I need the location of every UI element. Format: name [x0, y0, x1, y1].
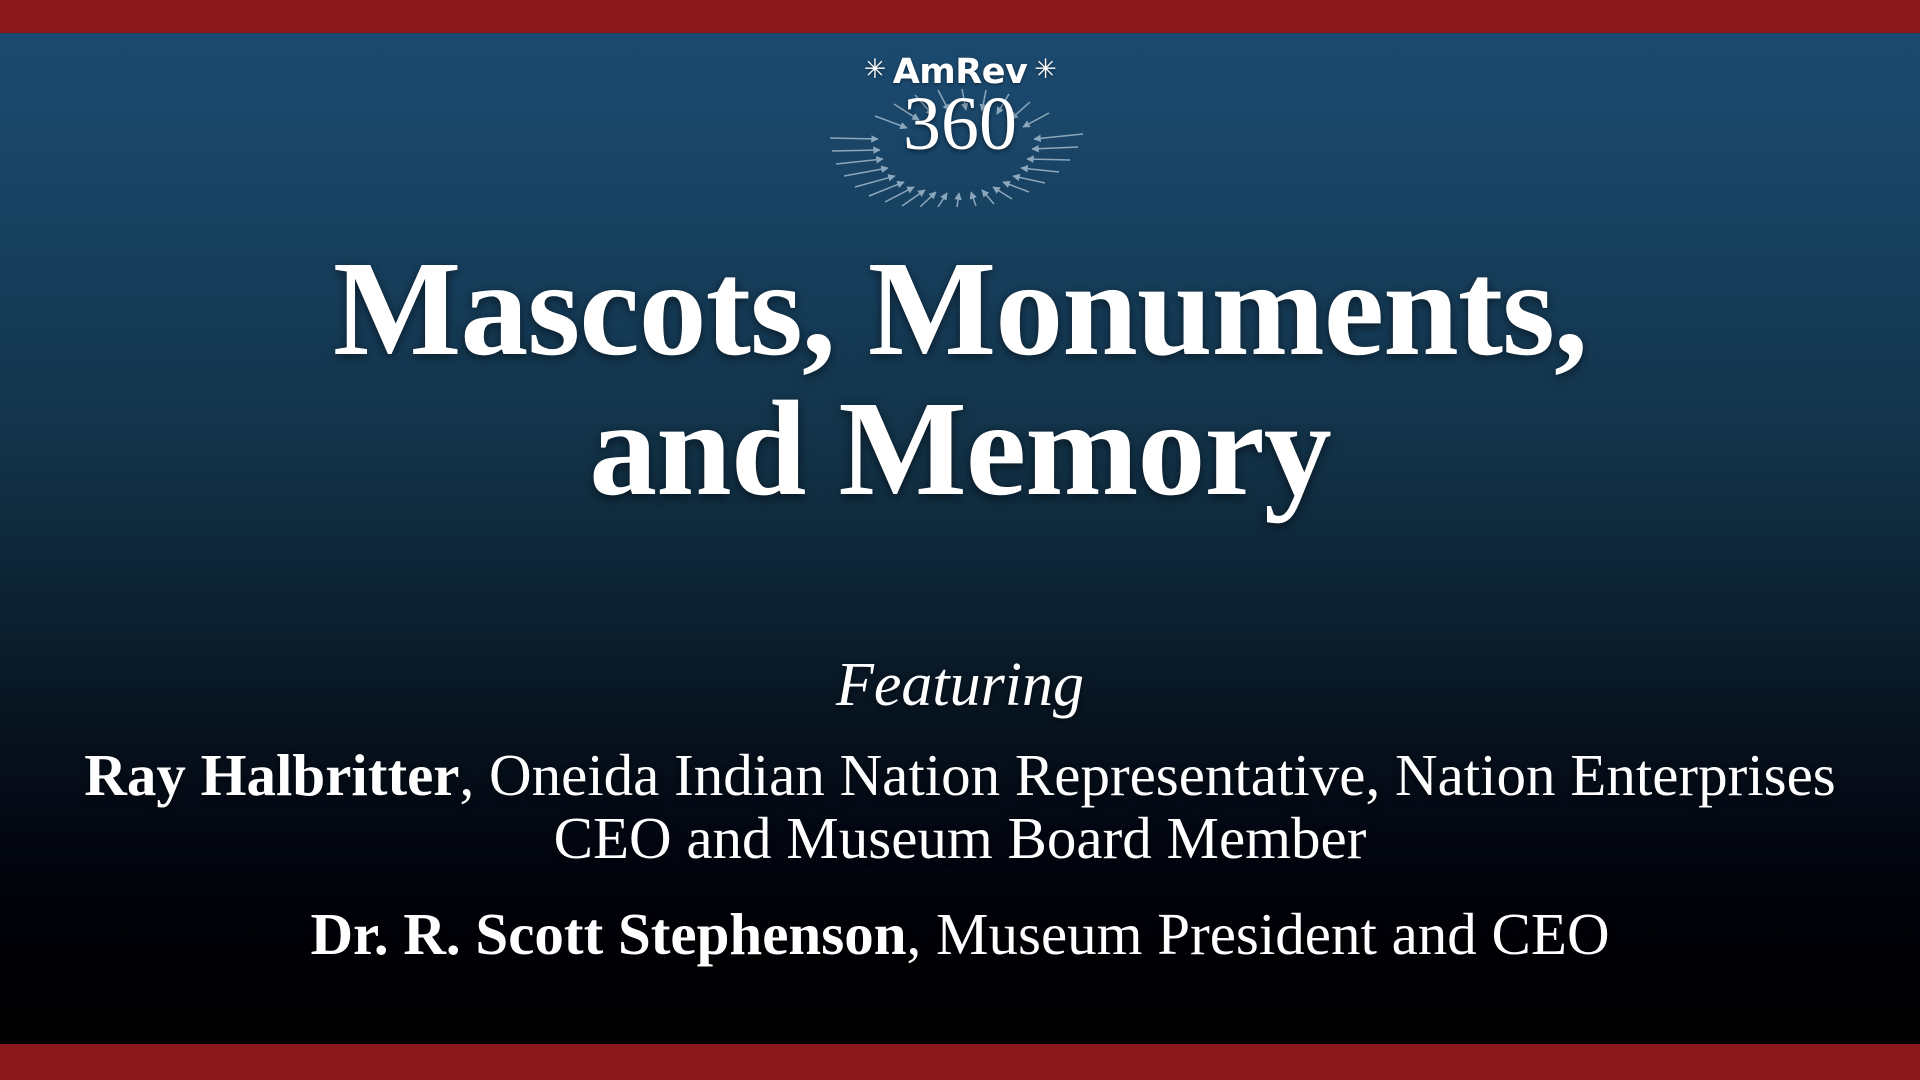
slide-content: ✳ AmRev ✳ 360 Mascots, Monuments, and Me… — [0, 33, 1920, 1044]
amrev360-logo: ✳ AmRev ✳ 360 — [825, 55, 1095, 205]
speaker-role: , Museum President and CEO — [907, 901, 1610, 967]
star-right-icon: ✳ — [1034, 56, 1056, 83]
bottom-accent-bar — [0, 1044, 1920, 1080]
title-slide: ✳ AmRev ✳ 360 Mascots, Monuments, and Me… — [0, 0, 1920, 1080]
speaker-list: Ray Halbritter, Oneida Indian Nation Rep… — [0, 744, 1920, 966]
top-accent-bar — [0, 0, 1920, 33]
speaker-role: , Oneida Indian Nation Representative, N… — [459, 742, 1835, 871]
title-line-1: Mascots, Monuments, — [333, 239, 1587, 379]
title-line-2: and Memory — [333, 379, 1587, 519]
logo-number-text: 360 — [903, 88, 1017, 160]
speaker-name: Ray Halbritter — [84, 742, 459, 808]
speaker-entry: Ray Halbritter, Oneida Indian Nation Rep… — [0, 744, 1920, 869]
featuring-label: Featuring — [836, 654, 1084, 716]
star-left-icon: ✳ — [864, 56, 886, 83]
page-title: Mascots, Monuments, and Memory — [333, 239, 1587, 519]
speaker-name: Dr. R. Scott Stephenson — [310, 901, 906, 967]
speaker-entry: Dr. R. Scott Stephenson, Museum Presiden… — [0, 903, 1920, 966]
